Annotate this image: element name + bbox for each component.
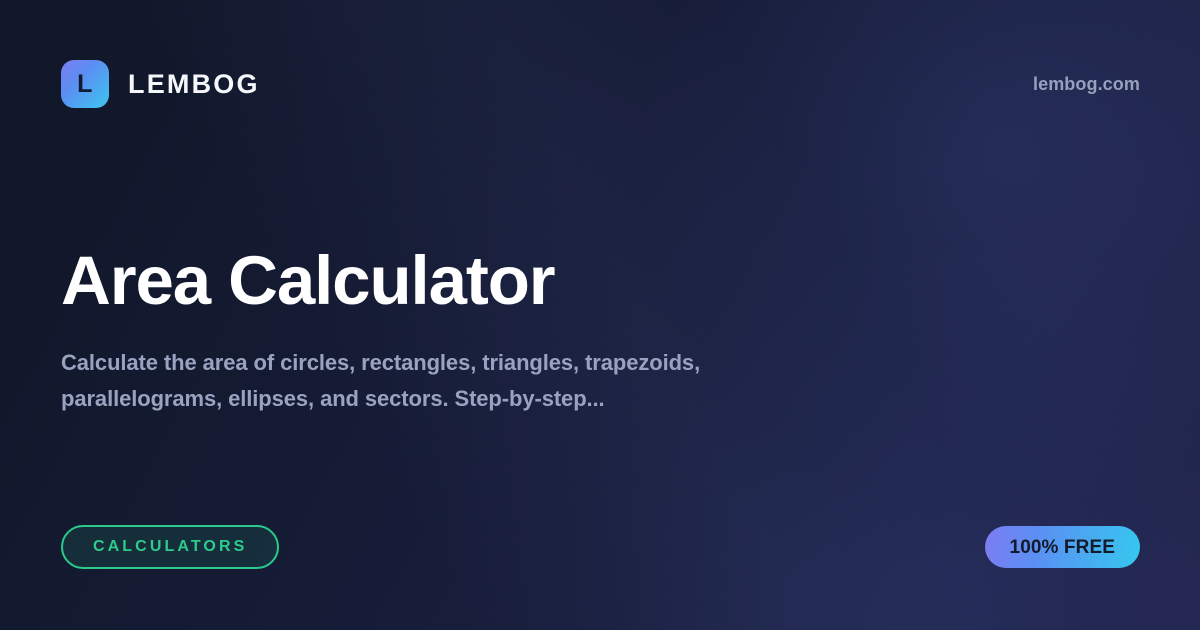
page-subtitle: Calculate the area of circles, rectangle…: [61, 345, 821, 416]
main-block: Area Calculator Calculate the area of ci…: [61, 246, 1140, 416]
brand-name: LEMBOG: [128, 71, 260, 98]
logo-letter: L: [77, 72, 93, 97]
header: L LEMBOG lembog.com: [61, 58, 1140, 110]
free-badge: 100% FREE: [985, 526, 1140, 568]
site-url[interactable]: lembog.com: [1033, 74, 1140, 95]
card-content: L LEMBOG lembog.com Area Calculator Calc…: [0, 0, 1200, 630]
og-card: L LEMBOG lembog.com Area Calculator Calc…: [0, 0, 1200, 630]
category-badge[interactable]: CALCULATORS: [61, 525, 279, 569]
footer: CALCULATORS 100% FREE: [61, 525, 1140, 569]
lembog-logo-icon: L: [61, 60, 109, 108]
brand[interactable]: L LEMBOG: [61, 60, 260, 108]
page-title: Area Calculator: [61, 246, 1140, 315]
